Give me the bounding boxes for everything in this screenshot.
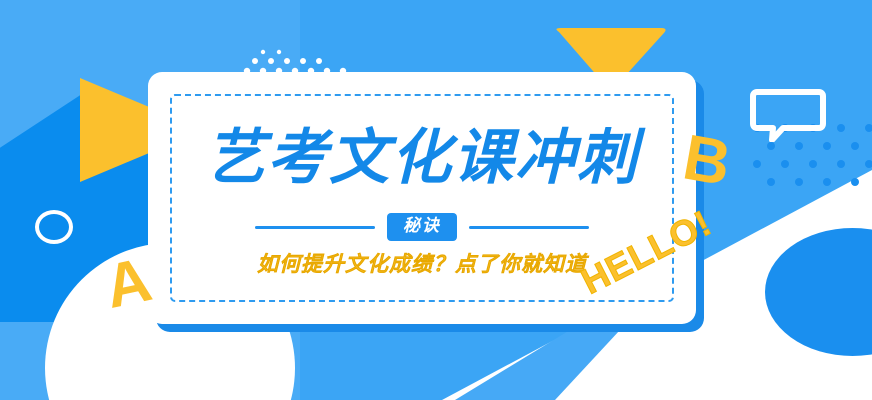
status-badge: 秘诀 [387, 213, 457, 241]
divider-left [255, 226, 375, 229]
badge-row: 秘诀 [148, 212, 696, 242]
promo-banner: 艺考文化课冲刺 秘诀 如何提升文化成绩？点了你就知道 A B HELLO! [0, 0, 872, 400]
page-title: 艺考文化课冲刺 [148, 128, 696, 188]
circle-ring-icon [35, 210, 73, 244]
speech-bubble-icon [750, 88, 826, 147]
divider-right [469, 226, 589, 229]
